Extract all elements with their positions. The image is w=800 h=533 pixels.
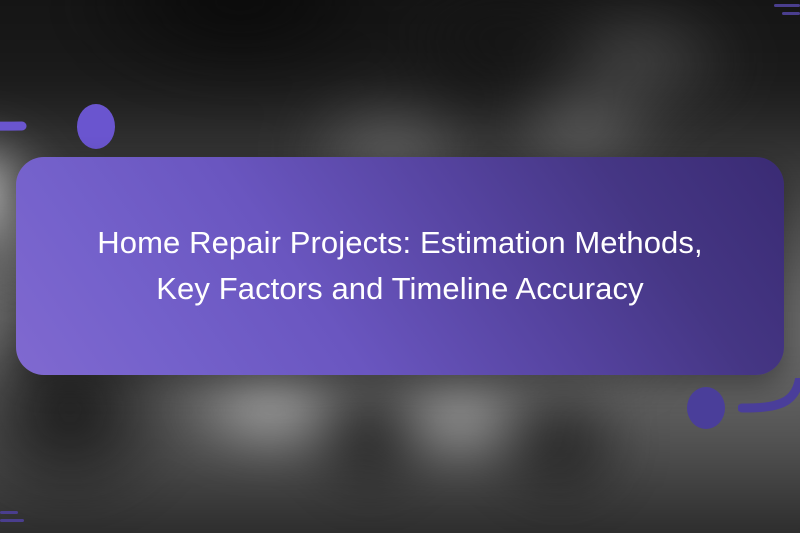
hairline-decoration bbox=[782, 12, 800, 15]
hairline-decoration bbox=[0, 519, 24, 522]
curved-line-icon bbox=[738, 378, 800, 438]
circle-decoration-icon bbox=[687, 387, 725, 429]
page-title: Home Repair Projects: Estimation Methods… bbox=[80, 220, 720, 312]
bottom-left-hairline-group bbox=[0, 511, 24, 527]
hairline-decoration bbox=[0, 511, 18, 514]
circle-decoration-icon bbox=[77, 104, 115, 149]
slide-canvas: Home Repair Projects: Estimation Methods… bbox=[0, 0, 800, 533]
hairline-decoration bbox=[774, 4, 800, 7]
curved-line-icon bbox=[0, 96, 70, 156]
top-right-hairline-group bbox=[774, 4, 800, 20]
title-card: Home Repair Projects: Estimation Methods… bbox=[16, 157, 784, 375]
